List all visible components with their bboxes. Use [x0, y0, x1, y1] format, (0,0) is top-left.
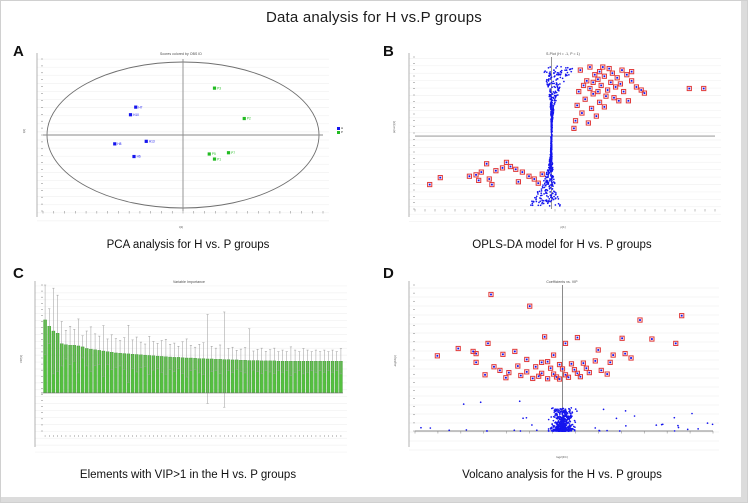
panel-b-caption: OPLS-DA model for H vs. P groups: [375, 239, 748, 251]
panel-a-caption: PCA analysis for H vs. P groups: [1, 239, 375, 251]
panel-a-plot: Scores colored by OBS ID H7H10H8H13H6P3P…: [31, 51, 331, 229]
legend-swatch-h: [337, 127, 340, 130]
panel-d-xlabel: log2(FC): [403, 455, 721, 459]
panel-d-caption: Volcano analysis for the H vs. P groups: [375, 469, 748, 481]
panel-b-letter: B: [383, 43, 394, 60]
panel-d-plot: Coefficients vs. VIP -log10(p) log2(FC): [403, 279, 721, 459]
panel-d-letter: D: [383, 265, 394, 282]
panel-b-ylabel: p(corr)[1]: [392, 121, 396, 133]
vip-bar-svg: [29, 279, 349, 459]
panel-c-caption: Elements with VIP>1 in the H vs. P group…: [1, 469, 375, 481]
bottom-edge-shade: [1, 497, 747, 502]
volcano-scatter-svg: [403, 279, 721, 459]
panel-a: A Scores colored by OBS ID H7H10H8H13H6P…: [1, 41, 375, 263]
panel-b: B S-Plot (H = -1, P = 1) p(corr)[1] p[1]…: [375, 41, 748, 263]
svg-text:H8: H8: [117, 142, 121, 146]
svg-text:P3: P3: [217, 86, 221, 90]
panel-a-legend: H P: [337, 127, 343, 135]
panel-a-ylabel: t[2]: [22, 129, 26, 133]
figure-root: Data analysis for H vs.P groups A Scores…: [0, 0, 748, 503]
svg-text:H7: H7: [138, 105, 142, 109]
splot-scatter-svg: [403, 51, 723, 229]
legend-item-p: P: [337, 131, 343, 134]
svg-text:P5: P5: [212, 152, 216, 156]
panel-a-letter: A: [13, 43, 24, 60]
svg-text:H13: H13: [149, 140, 155, 144]
panel-d-chart-title: Coefficients vs. VIP: [403, 280, 721, 284]
panel-c-chart-title: Variable Importance: [29, 280, 349, 284]
legend-swatch-p: [337, 131, 340, 134]
legend-label-p: P: [341, 131, 343, 134]
right-edge-shade: [741, 1, 747, 502]
pca-scatter-svg: H7H10H8H13H6P3P2P5P1P7: [31, 51, 331, 229]
panel-c-ylabel: VIP[1]: [19, 355, 23, 363]
panel-d: D Coefficients vs. VIP -log10(p) log2(FC…: [375, 263, 748, 501]
figure-title: Data analysis for H vs.P groups: [1, 9, 747, 26]
svg-text:H10: H10: [133, 113, 139, 117]
svg-text:P2: P2: [247, 117, 251, 121]
panel-b-xlabel: p[1]: [403, 225, 723, 229]
panel-d-ylabel: -log10(p): [393, 355, 397, 367]
svg-text:H6: H6: [137, 155, 141, 159]
svg-text:P7: P7: [231, 151, 235, 155]
panel-a-xlabel: t[1]: [31, 225, 331, 229]
panel-a-chart-title: Scores colored by OBS ID: [31, 52, 331, 56]
panel-b-plot: S-Plot (H = -1, P = 1) p(corr)[1] p[1]: [403, 51, 723, 229]
panel-c-letter: C: [13, 265, 24, 282]
panel-c: C Variable Importance VIP[1] Elements wi…: [1, 263, 375, 501]
panel-b-chart-title: S-Plot (H = -1, P = 1): [403, 52, 723, 56]
panel-c-plot: Variable Importance VIP[1]: [29, 279, 349, 459]
svg-text:P1: P1: [217, 157, 221, 161]
